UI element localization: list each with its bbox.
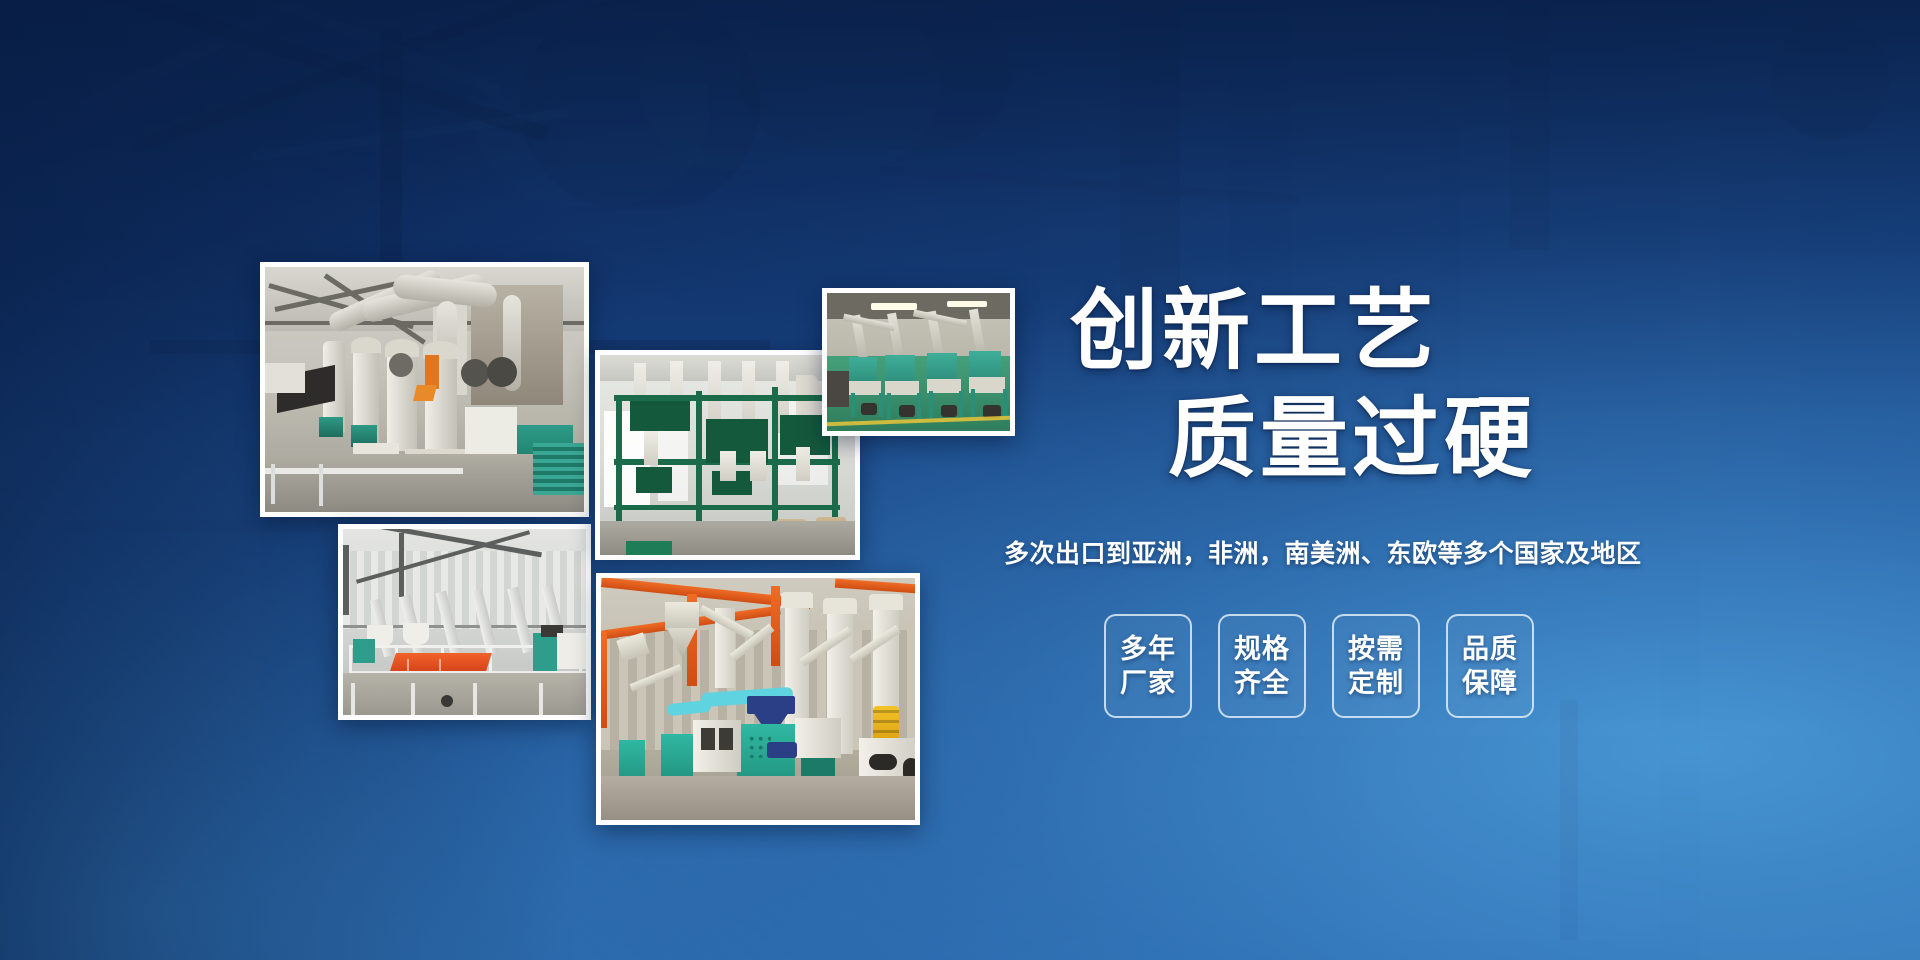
feature-badge-full-specs[interactable]: 规格 齐全 — [1218, 614, 1306, 718]
photo-grey-pipe-milling-line: 灰色管道制粉生产线 — [260, 262, 589, 517]
photo-green-frame-mill-tower: 绿色钢架磨粉塔 — [595, 350, 860, 560]
photo-collage: 灰色管道制粉生产线 — [0, 0, 1100, 960]
banner-subtitle: 多次出口到亚洲，非洲，南美洲、东欧等多个国家及地区 — [1004, 534, 1700, 570]
banner-text-block: 创新工艺 质量过硬 多次出口到亚洲，非洲，南美洲、东欧等多个国家及地区 多年 厂… — [1000, 280, 1700, 718]
feature-badge-list: 多年 厂家 规格 齐全 按需 定制 品质 保障 — [1104, 614, 1700, 718]
badge-2-line-2: 齐全 — [1234, 666, 1290, 700]
badge-1-line-2: 厂家 — [1120, 666, 1176, 700]
badge-4-line-1: 品质 — [1462, 632, 1518, 666]
badge-3-line-2: 定制 — [1348, 666, 1404, 700]
feature-badge-custom-made[interactable]: 按需 定制 — [1332, 614, 1420, 718]
badge-1-line-1: 多年 — [1120, 632, 1176, 666]
photo-teal-machines-orange-beams: 橙色钢梁厂房内的青绿色成套设备 — [596, 573, 920, 825]
photo-white-line-orange-conveyor: 白色清理设备与橙色输送机 — [338, 524, 591, 720]
headline-line-2: 质量过硬 — [1168, 388, 1700, 490]
headline-line-1: 创新工艺 — [1070, 280, 1700, 382]
badge-4-line-2: 保障 — [1462, 666, 1518, 700]
feature-badge-years-manufacturer[interactable]: 多年 厂家 — [1104, 614, 1192, 718]
badge-3-line-1: 按需 — [1348, 632, 1404, 666]
feature-badge-quality-guarantee[interactable]: 品质 保障 — [1446, 614, 1534, 718]
photo-teal-units-epoxy-floor: 绿色环氧地坪上的成套磨粉机组 — [822, 288, 1015, 436]
badge-2-line-1: 规格 — [1234, 632, 1290, 666]
promo-banner: 灰色管道制粉生产线 — [0, 0, 1920, 960]
